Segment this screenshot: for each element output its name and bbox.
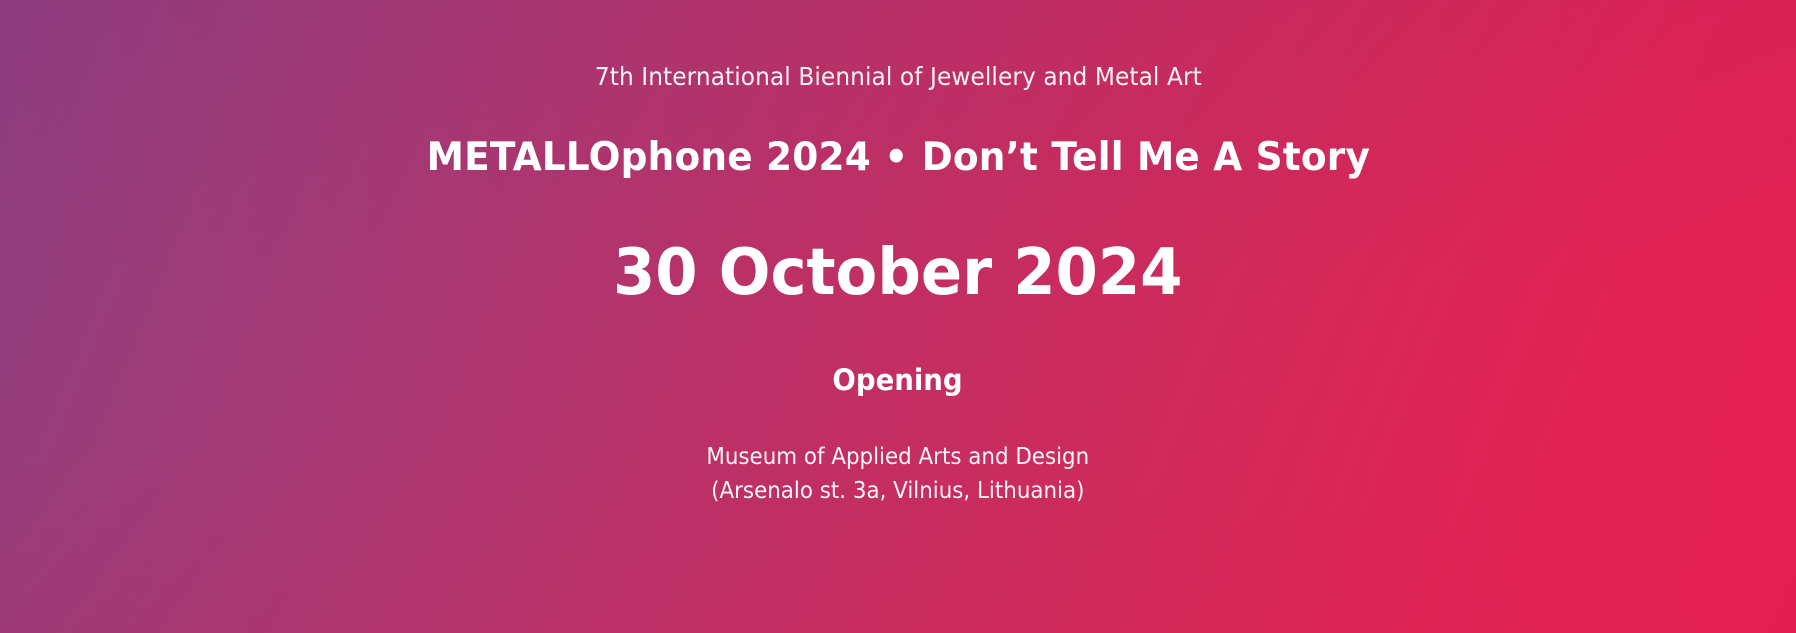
venue-address: (Arsenalo st. 3a, Vilnius, Lithuania) [707, 475, 1090, 509]
banner-venue: Museum of Applied Arts and Design (Arsen… [707, 441, 1090, 509]
banner-date: 30 October 2024 [613, 238, 1182, 308]
banner-content: 7th International Biennial of Jewellery … [0, 0, 1796, 509]
banner-subtitle: 7th International Biennial of Jewellery … [595, 62, 1202, 92]
banner-event-label: Opening [833, 363, 963, 398]
venue-name: Museum of Applied Arts and Design [707, 441, 1090, 475]
event-banner: 7th International Biennial of Jewellery … [0, 0, 1796, 633]
banner-title: METALLOphone 2024 • Don’t Tell Me A Stor… [426, 135, 1369, 182]
